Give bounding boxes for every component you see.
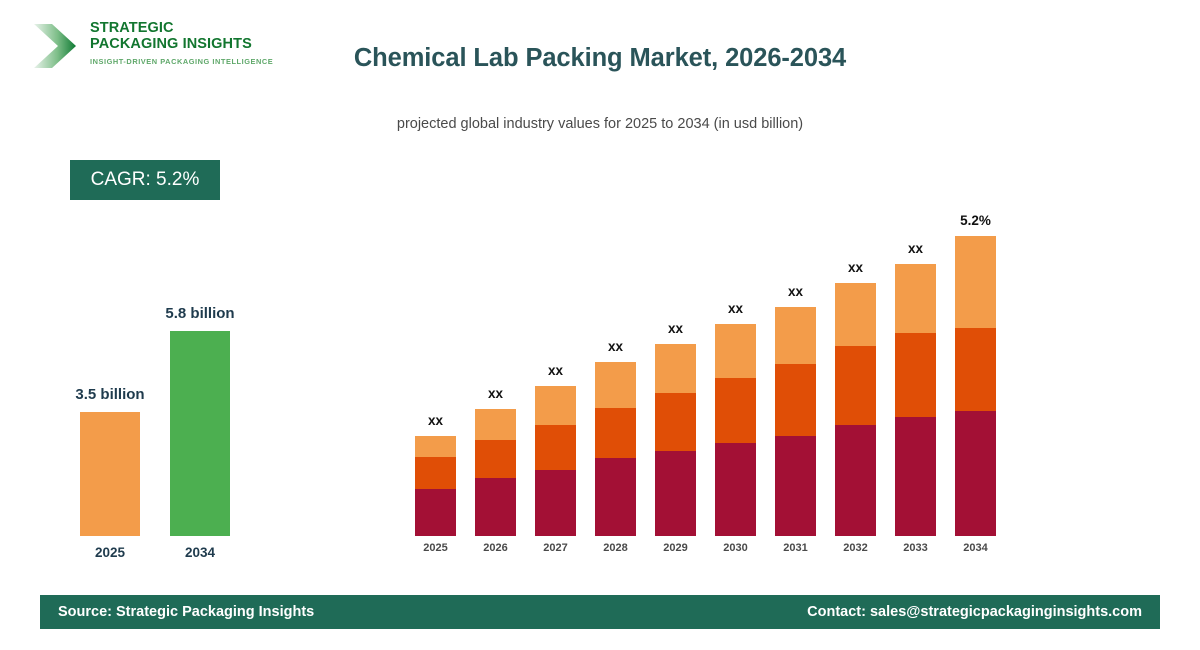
stacked-bar-value: xx: [668, 321, 683, 336]
stacked-bar-segment-top: [775, 307, 816, 365]
stacked-bar-segment-top: [415, 436, 456, 457]
stacked-forecast-chart: xx2025xx2026xx2027xx2028xx2029xx2030xx20…: [400, 200, 1020, 560]
stacked-bar-segment-middle: [475, 440, 516, 478]
stacked-bar-value: xx: [608, 339, 623, 354]
stacked-bar: xx2032: [835, 283, 876, 536]
stacked-bar-category: 2027: [543, 542, 567, 554]
stacked-bar-segment-middle: [715, 378, 756, 443]
stacked-bar-segment-middle: [535, 425, 576, 470]
stacked-bar-segment-middle: [655, 393, 696, 452]
stacked-bar-segment-bottom: [595, 458, 636, 536]
stacked-bar-segment-bottom: [655, 451, 696, 536]
comparison-bar-value: 5.8 billion: [165, 305, 234, 322]
stacked-bar-segment-top: [835, 283, 876, 346]
stacked-bar-segment-bottom: [895, 417, 936, 536]
stacked-bar-value: xx: [488, 386, 503, 401]
stacked-bar-segment-middle: [595, 408, 636, 459]
stacked-bar: xx2025: [415, 436, 456, 536]
comparison-bar-category: 2034: [185, 545, 215, 560]
stacked-bar-category: 2032: [843, 542, 867, 554]
stacked-bar-segment-bottom: [415, 489, 456, 536]
stacked-bar-segment-bottom: [475, 478, 516, 536]
stacked-bar-segment-middle: [835, 346, 876, 425]
stacked-bar: xx2026: [475, 409, 516, 536]
comparison-bar-value: 3.5 billion: [75, 386, 144, 403]
stacked-bar-segment-top: [955, 236, 996, 328]
stacked-bar-value: xx: [428, 413, 443, 428]
stacked-bar: xx2033: [895, 264, 936, 536]
page-subtitle: projected global industry values for 202…: [0, 116, 1200, 132]
chart-page: STRATEGIC PACKAGING INSIGHTS INSIGHT-DRI…: [0, 0, 1200, 650]
stacked-bar-segment-top: [595, 362, 636, 407]
stacked-bar-segment-top: [475, 409, 516, 440]
stacked-bar-category: 2030: [723, 542, 747, 554]
stacked-bar-segment-bottom: [535, 470, 576, 536]
stacked-bar-segment-top: [715, 324, 756, 379]
footer-bar: Source: Strategic Packaging Insights Con…: [40, 595, 1160, 629]
stacked-bar-value: xx: [788, 284, 803, 299]
stacked-bar-segment-top: [895, 264, 936, 333]
cagr-badge: CAGR: 5.2%: [70, 160, 220, 200]
stacked-bar-value: xx: [548, 363, 563, 378]
stacked-bar-value: xx: [848, 260, 863, 275]
stacked-bar-category: 2026: [483, 542, 507, 554]
stacked-bar-segment-bottom: [835, 425, 876, 536]
comparison-bar-2034: 5.8 billion 2034: [170, 331, 230, 536]
stacked-bar-segment-middle: [895, 333, 936, 417]
stacked-bar-category: 2029: [663, 542, 687, 554]
stacked-bar-segment-bottom: [775, 436, 816, 536]
footer-source: Source: Strategic Packaging Insights: [58, 604, 314, 620]
stacked-bar-category: 2025: [423, 542, 447, 554]
page-title: Chemical Lab Packing Market, 2026-2034: [0, 44, 1200, 73]
stacked-bar-segment-top: [535, 386, 576, 425]
stacked-bar-segment-bottom: [715, 443, 756, 536]
stacked-bar: 5.2%2034: [955, 236, 996, 536]
comparison-bar-fill: [80, 412, 140, 536]
stacked-bar-segment-top: [655, 344, 696, 392]
stacked-bar-category: 2033: [903, 542, 927, 554]
stacked-bar-segment-middle: [775, 364, 816, 436]
stacked-bar-segment-middle: [955, 328, 996, 411]
stacked-bar-category: 2028: [603, 542, 627, 554]
stacked-bar-value: xx: [728, 301, 743, 316]
stacked-bar: xx2029: [655, 344, 696, 536]
stacked-bar: xx2028: [595, 362, 636, 536]
stacked-bar-category: 2034: [963, 542, 987, 554]
logo-line-1: STRATEGIC: [90, 21, 273, 37]
stacked-bar: xx2027: [535, 386, 576, 537]
stacked-bar-segment-bottom: [955, 411, 996, 536]
stacked-bar: xx2030: [715, 324, 756, 536]
stacked-bar-segment-middle: [415, 457, 456, 488]
footer-contact: Contact: sales@strategicpackaginginsight…: [807, 604, 1142, 620]
comparison-bar-fill: [170, 331, 230, 536]
stacked-bar-value: 5.2%: [960, 213, 991, 228]
stacked-bar-category: 2031: [783, 542, 807, 554]
stacked-bar: xx2031: [775, 307, 816, 536]
comparison-bar-2025: 3.5 billion 2025: [80, 412, 140, 536]
comparison-bar-category: 2025: [95, 545, 125, 560]
comparison-bar-chart: 3.5 billion 2025 5.8 billion 2034: [40, 210, 320, 570]
stacked-bar-value: xx: [908, 241, 923, 256]
